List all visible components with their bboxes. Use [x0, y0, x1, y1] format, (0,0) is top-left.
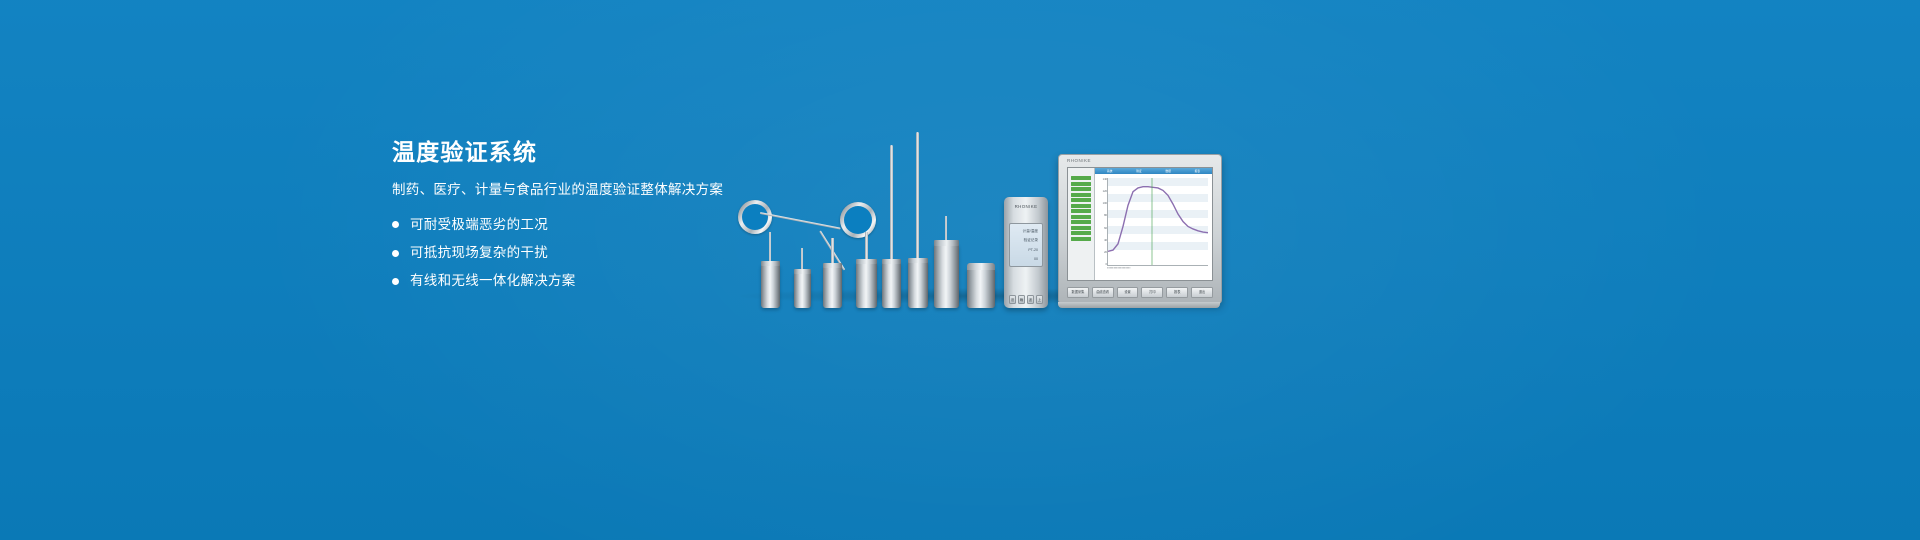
chart-x-axis: ||||||||||||||||||||||||||||||||||||||||… — [1107, 267, 1208, 275]
channel-chip[interactable] — [1071, 209, 1091, 213]
screen-chart-panel: 系统 验证 数据 报表 140 120 100 80 60 40 20 0 — [1095, 168, 1212, 280]
y-tick-label: 0 — [1096, 263, 1107, 266]
x-tick-label: ||||||||||||||||||||||||||||||||||||||||… — [1107, 267, 1130, 275]
logger-body — [856, 262, 877, 308]
channel-chip[interactable] — [1071, 220, 1091, 224]
coil-probe-icon — [840, 202, 876, 238]
monitor-brand-label: RHONIKE — [1067, 158, 1091, 163]
squat-logger-body — [967, 268, 995, 308]
reader-screen: 计量/温度 验证记录 PT-20 00 — [1009, 223, 1043, 267]
hero-copy-block: 温度验证系统 制药、医疗、计量与食品行业的温度验证整体解决方案 可耐受极端恶劣的… — [392, 140, 822, 289]
y-tick-label: 40 — [1096, 239, 1107, 242]
chart-y-axis: 140 120 100 80 60 40 20 0 — [1096, 178, 1107, 266]
bullet-dot-icon — [392, 221, 399, 228]
logger-cap — [856, 259, 877, 264]
bullet-dot-icon — [392, 250, 399, 257]
y-tick-label: 60 — [1096, 227, 1107, 230]
channel-chip[interactable] — [1071, 237, 1091, 241]
reader-brand-label: RHONIKE — [1004, 204, 1048, 209]
needle-probe-shaft — [916, 132, 919, 262]
needle-probe-body — [882, 262, 901, 308]
list-item: 有线和无线一体化解决方案 — [392, 273, 822, 289]
chart-plot-area — [1107, 178, 1208, 266]
feature-label: 可耐受极端恶劣的工况 — [410, 217, 548, 233]
logger-body — [823, 266, 842, 308]
monitor-button[interactable]: 设置 — [1117, 287, 1139, 298]
channel-chip[interactable] — [1071, 204, 1091, 208]
reader-screen-line: 00 — [1014, 257, 1038, 261]
reader-key[interactable]: 确认 — [1018, 295, 1025, 304]
reader-key[interactable]: 上翻 — [1036, 295, 1043, 304]
list-item: 可耐受极端恶劣的工况 — [392, 217, 822, 233]
industrial-monitor[interactable]: RHONIKE — [1058, 154, 1222, 304]
needle-probe-cap — [882, 259, 901, 264]
feature-label: 有线和无线一体化解决方案 — [410, 273, 576, 289]
channel-chip[interactable] — [1071, 182, 1091, 186]
temperature-trend-chart — [1108, 178, 1208, 265]
y-tick-label: 140 — [1096, 178, 1107, 181]
channel-chip[interactable] — [1071, 176, 1091, 180]
monitor-button[interactable]: 报表 — [1166, 287, 1188, 298]
handheld-reader[interactable]: RHONIKE 计量/温度 验证记录 PT-20 00 设置 确认 返回 上翻 — [1004, 197, 1048, 308]
monitor-button[interactable]: 打印 — [1141, 287, 1163, 298]
channel-chip[interactable] — [1071, 215, 1091, 219]
y-tick-label: 20 — [1096, 251, 1107, 254]
needle-probe-shaft — [890, 145, 893, 263]
page-title: 温度验证系统 — [392, 140, 822, 165]
bullet-dot-icon — [392, 278, 399, 285]
hero-banner: 温度验证系统 制药、医疗、计量与食品行业的温度验证整体解决方案 可耐受极端恶劣的… — [0, 0, 1920, 540]
y-tick-label: 80 — [1096, 214, 1107, 217]
hero-subtitle: 制药、医疗、计量与食品行业的温度验证整体解决方案 — [392, 181, 822, 199]
topbar-item[interactable]: 数据 — [1165, 169, 1171, 173]
reader-screen-line: PT-20 — [1014, 248, 1038, 252]
y-tick-label: 120 — [1096, 190, 1107, 193]
feature-label: 可抵抗现场复杂的干扰 — [410, 245, 548, 261]
squat-logger-cap — [967, 263, 995, 270]
topbar-item[interactable]: 验证 — [1136, 169, 1142, 173]
monitor-button-bar[interactable]: 数据采集 曲线查看 设置 打印 报表 退出 — [1067, 286, 1213, 298]
channel-chip[interactable] — [1071, 193, 1091, 197]
y-tick-label: 100 — [1096, 202, 1107, 205]
topbar-item[interactable]: 报表 — [1195, 169, 1201, 173]
reader-screen-line: 验证记录 — [1014, 238, 1038, 243]
needle-probe-body — [908, 261, 928, 308]
monitor-stand — [1058, 302, 1220, 308]
needle-probe-cap — [908, 258, 928, 263]
wireless-logger-cap — [934, 240, 959, 246]
channel-chip[interactable] — [1071, 187, 1091, 191]
monitor-button[interactable]: 数据采集 — [1067, 287, 1089, 298]
reader-key[interactable]: 返回 — [1027, 295, 1034, 304]
feature-list: 可耐受极端恶劣的工况 可抵抗现场复杂的干扰 有线和无线一体化解决方案 — [392, 217, 822, 290]
screen-topbar[interactable]: 系统 验证 数据 报表 — [1095, 168, 1212, 174]
channel-chip[interactable] — [1071, 226, 1091, 230]
channel-chip[interactable] — [1071, 231, 1091, 235]
list-item: 可抵抗现场复杂的干扰 — [392, 245, 822, 261]
wireless-logger-body — [934, 244, 959, 308]
reader-key[interactable]: 设置 — [1009, 295, 1016, 304]
reader-keypad[interactable]: 设置 确认 返回 上翻 — [1009, 295, 1043, 304]
monitor-button[interactable]: 曲线查看 — [1092, 287, 1114, 298]
monitor-button[interactable]: 退出 — [1191, 287, 1213, 298]
monitor-screen[interactable]: 系统 验证 数据 报表 140 120 100 80 60 40 20 0 — [1067, 167, 1213, 281]
channel-chip[interactable] — [1071, 198, 1091, 202]
screen-channel-list[interactable] — [1068, 168, 1095, 280]
logger-cap — [823, 263, 842, 268]
topbar-item[interactable]: 系统 — [1107, 169, 1113, 173]
reader-screen-line: 计量/温度 — [1014, 229, 1038, 234]
